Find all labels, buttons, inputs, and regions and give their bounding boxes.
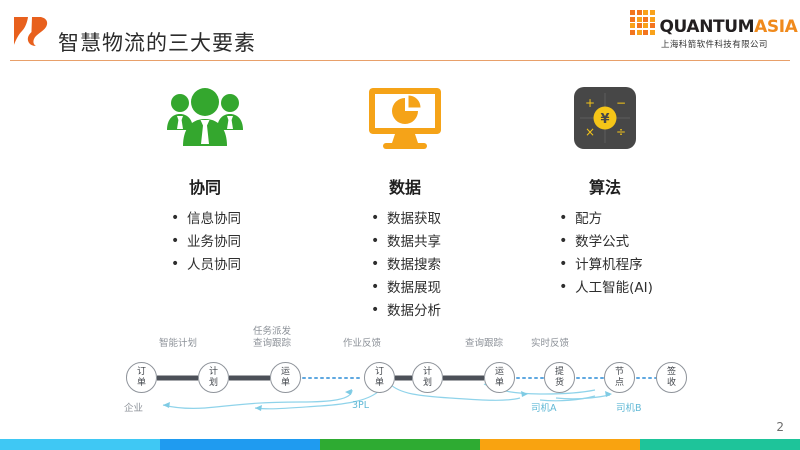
timeline-node-line2: 划 (423, 378, 432, 389)
timeline-node-line1: 运 (281, 367, 290, 378)
timeline-node-waybill-1[interactable]: 运 单 (270, 362, 301, 393)
list-item: 配方 (557, 208, 653, 231)
list-item: 人员协同 (169, 254, 241, 277)
timeline-node-line1: 签 (667, 367, 676, 378)
timeline-actor-driver-a: 司机A (531, 400, 557, 414)
page-number: 2 (776, 420, 784, 434)
timeline-node-line2: 收 (667, 378, 676, 389)
feature-heading-algorithm: 算法 (505, 174, 705, 198)
corp-logo-word-primary: QUANTUM (660, 17, 755, 37)
feature-bullets-data: 数据获取 数据共享 数据搜索 数据展现 数据分析 (369, 208, 441, 323)
timeline-node-line2: 划 (209, 378, 218, 389)
list-item: 信息协同 (169, 208, 241, 231)
timeline-node-plan-1[interactable]: 计 划 (198, 362, 229, 393)
list-item: 数据获取 (369, 208, 441, 231)
timeline-node-line1: 计 (209, 367, 218, 378)
timeline-actor-3pl: 3PL (352, 400, 369, 411)
feature-heading-data: 数据 (310, 174, 500, 198)
timeline-label-realtime-feedback: 实时反馈 (531, 338, 569, 350)
timeline-label-job-feedback: 作业反馈 (343, 338, 381, 350)
timeline-node-line1: 订 (375, 367, 384, 378)
timeline-node-line1: 提 (555, 367, 564, 378)
feature-bullets-algorithm: 配方 数学公式 计算机程序 人工智能(AI) (557, 208, 653, 300)
timeline-node-line1: 运 (495, 367, 504, 378)
corp-logo-subtitle: 上海科箭软件科技有限公司 (630, 38, 790, 50)
process-timeline: 智能计划 任务派发 查询跟踪 作业反馈 查询跟踪 实时反馈 订 单 计 划 运 … (0, 318, 800, 428)
footer-bar-segment-3 (320, 439, 480, 450)
timeline-node-signoff[interactable]: 签 收 (656, 362, 687, 393)
svg-text:×: × (585, 125, 595, 139)
timeline-node-line2: 单 (375, 378, 384, 389)
feature-heading-collaboration: 协同 (110, 174, 300, 198)
svg-text:÷: ÷ (616, 125, 626, 139)
timeline-node-order-2[interactable]: 订 单 (364, 362, 395, 393)
timeline-node-line2: 点 (615, 378, 624, 389)
brand-mark-icon (12, 14, 52, 48)
footer-bar-segment-1 (0, 439, 160, 450)
monitor-pie-chart-icon (310, 78, 500, 158)
timeline-node-line2: 单 (137, 378, 146, 389)
timeline-actor-driver-b: 司机B (616, 400, 642, 414)
timeline-node-line2: 货 (555, 378, 564, 389)
list-item: 数据搜索 (369, 254, 441, 277)
feature-columns: 协同 信息协同 业务协同 人员协同 数据 数据 (0, 78, 800, 313)
list-item: 计算机程序 (557, 254, 653, 277)
svg-text:−: − (616, 96, 626, 110)
corp-logo: QUANTUMASIA 上海科箭软件科技有限公司 (630, 10, 790, 52)
timeline-label-task-dispatch: 任务派发 查询跟踪 (253, 326, 291, 350)
feature-column-collaboration: 协同 信息协同 业务协同 人员协同 (110, 78, 300, 277)
page-title: 智慧物流的三大要素 (58, 27, 256, 57)
timeline-node-line2: 单 (495, 378, 504, 389)
list-item: 人工智能(AI) (557, 277, 653, 300)
timeline-node-line2: 单 (281, 378, 290, 389)
timeline-node-pickup[interactable]: 提 货 (544, 362, 575, 393)
timeline-node-line1: 节 (615, 367, 624, 378)
header-divider (10, 60, 790, 61)
timeline-node-waybill-2[interactable]: 运 单 (484, 362, 515, 393)
footer-bar-segment-2 (160, 439, 320, 450)
corp-logo-word-accent: ASIA (754, 17, 797, 37)
footer-bar-segment-5 (640, 439, 800, 450)
list-item: 业务协同 (169, 231, 241, 254)
footer-bar-segment-4 (480, 439, 640, 450)
feature-column-algorithm: + − × ÷ ¥ 算法 配方 数学公式 计算机程序 人工智能(AI) (505, 78, 705, 300)
feature-column-data: 数据 数据获取 数据共享 数据搜索 数据展现 数据分析 (310, 78, 500, 323)
timeline-node-order-1[interactable]: 订 单 (126, 362, 157, 393)
feature-bullets-collaboration: 信息协同 业务协同 人员协同 (169, 208, 241, 277)
footer-color-bar (0, 439, 800, 450)
timeline-label-query-tracking: 查询跟踪 (465, 338, 503, 350)
timeline-node-line1: 订 (137, 367, 146, 378)
timeline-label-task-dispatch-line2: 查询跟踪 (253, 338, 291, 350)
timeline-node-plan-2[interactable]: 计 划 (412, 362, 443, 393)
calculator-yen-icon: + − × ÷ ¥ (505, 78, 705, 158)
svg-text:¥: ¥ (600, 112, 609, 127)
svg-text:+: + (585, 96, 595, 110)
timeline-node-checkpoint[interactable]: 节 点 (604, 362, 635, 393)
list-item: 数学公式 (557, 231, 653, 254)
timeline-label-smart-plan: 智能计划 (159, 338, 197, 350)
people-group-icon (110, 78, 300, 158)
timeline-label-task-dispatch-line1: 任务派发 (253, 326, 291, 338)
list-item: 数据展现 (369, 277, 441, 300)
timeline-actor-enterprise: 企业 (124, 400, 143, 414)
slide-header: 智慧物流的三大要素 QUANTUMASIA 上海科箭软件科技有限公司 (0, 0, 800, 61)
list-item: 数据共享 (369, 231, 441, 254)
timeline-node-line1: 计 (423, 367, 432, 378)
logo-dot-grid-icon (630, 10, 655, 35)
